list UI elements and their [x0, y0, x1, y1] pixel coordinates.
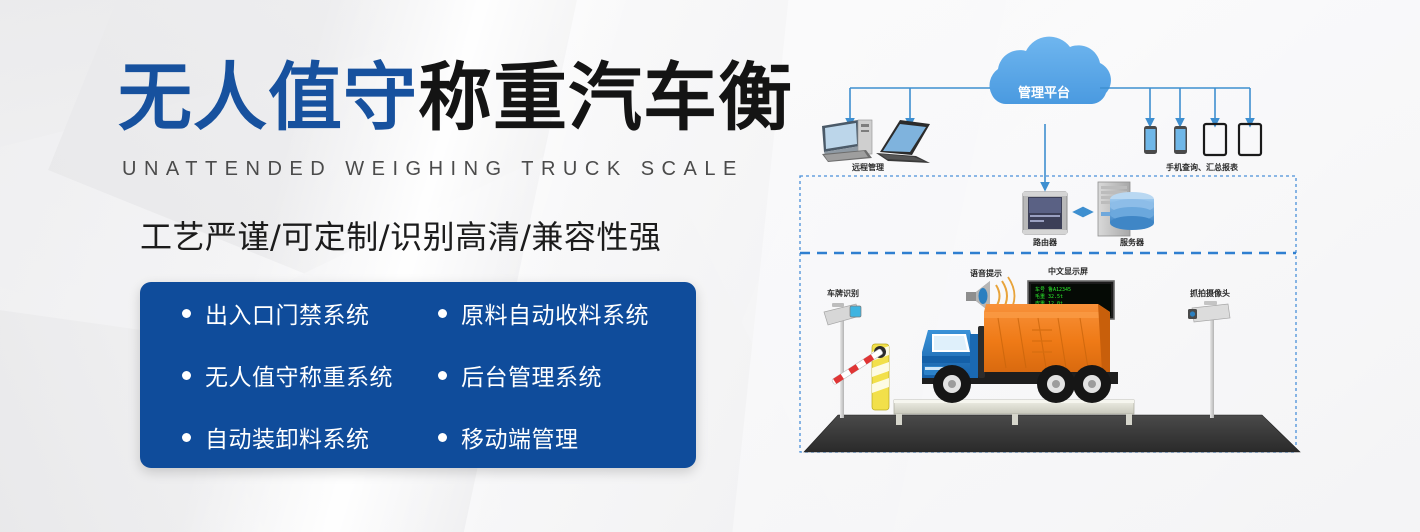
list-item[interactable]: 自动装卸料系统	[182, 420, 438, 454]
feature-label: 移动端管理	[461, 420, 579, 454]
led-line: 车号 鲁A12345	[1035, 286, 1071, 293]
server-icon	[1098, 182, 1154, 236]
server-device: 服务器	[1098, 182, 1154, 247]
feature-label: 出入口门禁系统	[205, 296, 370, 330]
led-line: 毛重 32.5t	[1035, 293, 1063, 300]
router-device: 路由器	[1023, 192, 1067, 247]
tablet-icon	[1204, 124, 1226, 155]
system-architecture-diagram: 管理平台	[780, 0, 1420, 532]
label-server: 服务器	[1120, 237, 1145, 247]
page-subtitle: UNATTENDED WEIGHING TRUCK SCALE	[122, 158, 744, 181]
label-capture-camera: 抓拍摄像头	[1190, 288, 1230, 298]
list-item[interactable]: 后台管理系统	[438, 358, 696, 392]
page-title: 无人值守称重汽车衡	[118, 58, 793, 138]
bullet-icon	[438, 371, 447, 380]
feature-label: 后台管理系统	[461, 358, 602, 392]
text-panel: 无人值守称重汽车衡 UNATTENDED WEIGHING TRUCK SCAL…	[0, 0, 760, 532]
bullet-icon	[182, 433, 191, 442]
plate-recognition-camera: 车牌识别	[824, 288, 861, 418]
cloud-label: 管理平台	[1018, 85, 1070, 101]
label-remote-management: 远程管理	[852, 162, 884, 172]
label-voice-prompt: 语音提示	[970, 268, 1002, 278]
label-router: 路由器	[1033, 237, 1058, 247]
capture-camera: 抓拍摄像头	[1188, 288, 1230, 418]
banner-root: 无人值守称重汽车衡 UNATTENDED WEIGHING TRUCK SCAL…	[0, 0, 1420, 532]
truck-dump-body	[984, 304, 1110, 372]
bullet-icon	[438, 309, 447, 318]
remote-management-devices: 远程管理	[822, 120, 930, 172]
router-icon	[1023, 192, 1067, 234]
label-mobile-query: 手机查询、汇总报表	[1166, 162, 1239, 172]
phone-icon	[1144, 126, 1157, 154]
bullet-icon	[182, 371, 191, 380]
list-item[interactable]: 无人值守称重系统	[182, 358, 438, 392]
desktop-computer-icon	[822, 120, 872, 162]
feature-label: 原料自动收料系统	[461, 296, 649, 330]
bullet-icon	[438, 433, 447, 442]
laptop-icon	[876, 120, 930, 163]
list-item[interactable]: 移动端管理	[438, 420, 696, 454]
feature-list: 出入口门禁系统 原料自动收料系统 无人值守称重系统 后台管理系统 自动装卸料系统…	[140, 282, 696, 468]
list-item[interactable]: 出入口门禁系统	[182, 296, 438, 330]
title-highlight: 无人值守	[118, 55, 418, 141]
ground-plane	[804, 415, 1300, 452]
feature-label: 无人值守称重系统	[205, 358, 393, 392]
camera-icon	[1188, 301, 1230, 322]
dump-truck	[922, 304, 1118, 403]
title-rest: 称重汽车衡	[418, 55, 793, 141]
label-chinese-display: 中文显示屏	[1048, 266, 1088, 276]
label-plate-recognition: 车牌识别	[827, 288, 859, 298]
list-item[interactable]: 原料自动收料系统	[438, 296, 696, 330]
cloud-management-platform[interactable]: 管理平台	[990, 37, 1111, 104]
page-tagline: 工艺严谨/可定制/识别高清/兼容性强	[140, 212, 661, 258]
mobile-devices: 手机查询、汇总报表	[1144, 124, 1261, 172]
phone-icon	[1174, 126, 1187, 154]
feature-label: 自动装卸料系统	[205, 420, 370, 454]
bullet-icon	[182, 309, 191, 318]
tablet-icon	[1239, 124, 1261, 155]
